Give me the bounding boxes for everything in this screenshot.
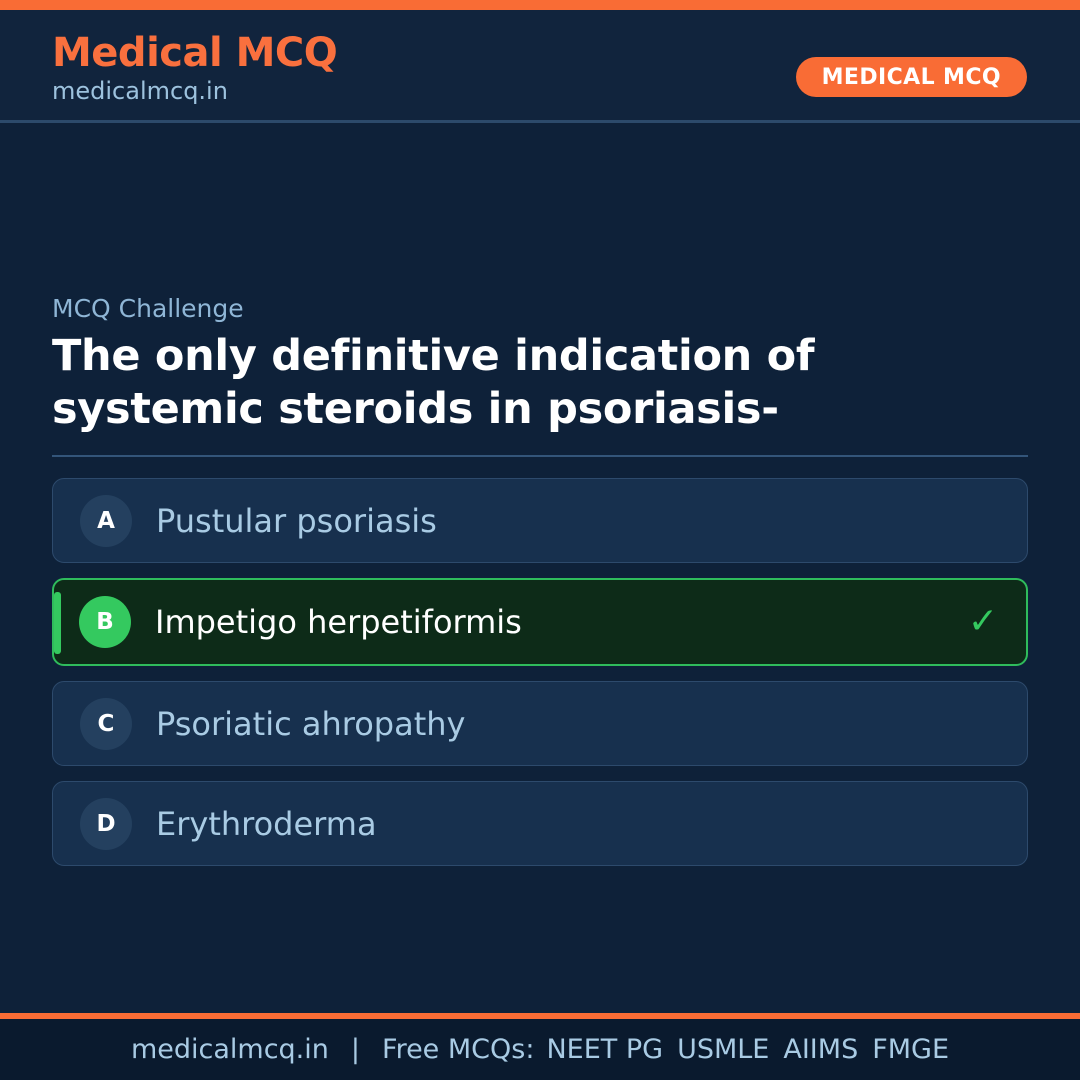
brand-subtitle: medicalmcq.in — [52, 76, 337, 106]
header-divider — [0, 120, 1080, 123]
correct-accent-bar — [54, 592, 61, 654]
top-accent-bar — [0, 0, 1080, 10]
footer-text-row: medicalmcq.in | Free MCQs: NEET PG USMLE… — [131, 1034, 949, 1065]
brand: Medical MCQ medicalmcq.in — [52, 28, 337, 106]
footer-bar: medicalmcq.in | Free MCQs: NEET PG USMLE… — [0, 1019, 1080, 1080]
option-label: Pustular psoriasis — [156, 502, 437, 540]
question-block: MCQ Challenge The only definitive indica… — [52, 292, 1028, 436]
footer-exam-usmle[interactable]: USMLE — [677, 1034, 769, 1065]
option-letter-badge: B — [79, 596, 131, 648]
option-letter-badge: C — [80, 698, 132, 750]
option-letter-badge: D — [80, 798, 132, 850]
question-kicker: MCQ Challenge — [52, 292, 1028, 326]
footer-site[interactable]: medicalmcq.in — [131, 1034, 329, 1065]
option-row-b[interactable]: B Impetigo herpetiformis ✓ — [52, 578, 1028, 666]
footer-separator: | — [351, 1034, 360, 1065]
option-row-c[interactable]: C Psoriatic ahropathy — [52, 681, 1028, 766]
question-divider — [52, 455, 1028, 457]
check-icon: ✓ — [968, 604, 998, 640]
option-label: Impetigo herpetiformis — [155, 603, 522, 641]
option-label: Psoriatic ahropathy — [156, 705, 465, 743]
option-list: A Pustular psoriasis B Impetigo herpetif… — [52, 478, 1028, 881]
question-text: The only definitive indication of system… — [52, 330, 992, 436]
footer-exam-aiims[interactable]: AIIMS — [783, 1034, 858, 1065]
option-label: Erythroderma — [156, 805, 377, 843]
footer-lead-label: Free MCQs: — [382, 1034, 534, 1065]
option-row-a[interactable]: A Pustular psoriasis — [52, 478, 1028, 563]
brand-title: Medical MCQ — [52, 28, 337, 78]
footer-exam-neet-pg[interactable]: NEET PG — [546, 1034, 663, 1065]
option-letter-badge: A — [80, 495, 132, 547]
option-row-d[interactable]: D Erythroderma — [52, 781, 1028, 866]
mcq-card: Medical MCQ medicalmcq.in MEDICAL MCQ MC… — [0, 0, 1080, 1080]
footer-exam-fmge[interactable]: FMGE — [872, 1034, 949, 1065]
header-bar: Medical MCQ medicalmcq.in MEDICAL MCQ — [0, 10, 1080, 122]
header-badge[interactable]: MEDICAL MCQ — [796, 57, 1027, 97]
